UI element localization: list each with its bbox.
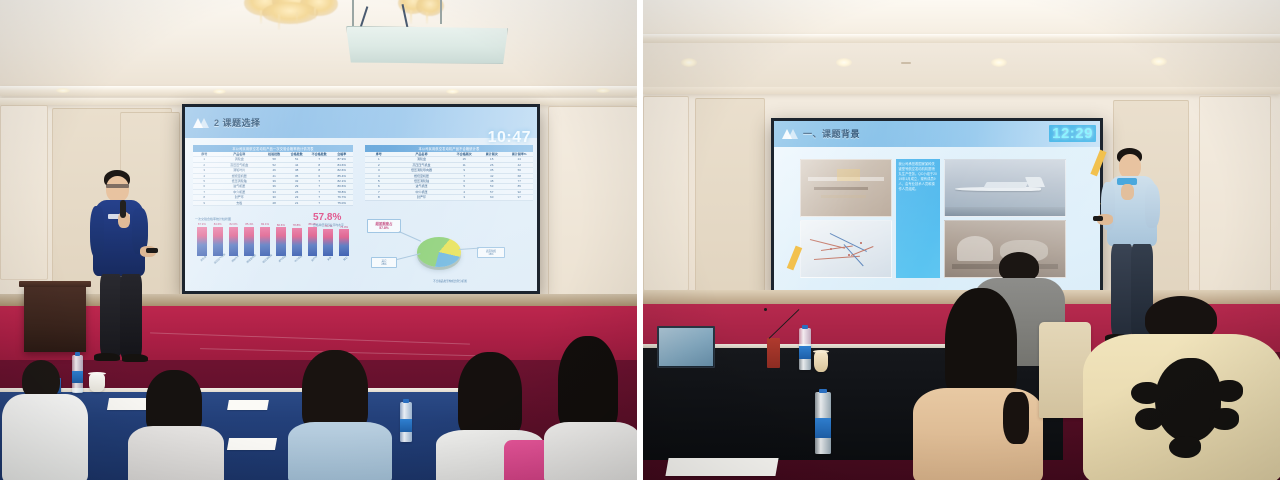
rcol-0: 序号 [365, 152, 393, 156]
presenter-leg-left [100, 274, 122, 356]
table-cell: 6 [365, 184, 393, 188]
table-cell: 9 [450, 168, 478, 172]
projection-screen-frame: 2 课题选择 10:47 本公司民用航空发动机产品一次交验合格率统计情况表 序号… [182, 104, 540, 294]
rcol-4: 累计频率% [505, 152, 533, 156]
shirt-graphic-petal-4 [1209, 408, 1239, 430]
attendee-2-torso [128, 426, 224, 480]
microphone-head [764, 308, 767, 311]
pie-chart-caption: 不合格品类型构成比例分析图 [375, 279, 525, 283]
table-cell: 35 [478, 168, 506, 172]
table-cell: 78.8% [330, 190, 353, 194]
attendee-1-torso [2, 394, 88, 480]
table-cell: 77 [505, 179, 533, 183]
bar-chart-plot: 87.9%84.6%82.6%85.4%82.1%80.6%78.8%88.2%… [195, 222, 351, 256]
table-cell: 4 [193, 174, 216, 178]
shirt-graphic-petal-2 [1135, 408, 1163, 430]
table-cell: 6 [193, 184, 216, 188]
table-cell: 15 [478, 157, 506, 161]
paper-cup [814, 352, 828, 372]
table-cell: 24 [505, 157, 533, 161]
table-cell: 5 [450, 184, 478, 188]
bar-chart-callout-value: 57.8% [313, 213, 344, 223]
table-cell: 33 [263, 190, 286, 194]
table-cell: 燃烧室机匣 [393, 174, 451, 178]
slide-body-text: 我公司承担着国家某种关键型号航空发动机机匣喷丸生产任务。QC小组于2019年1月… [896, 159, 940, 278]
table-cell: 39 [263, 179, 286, 183]
table-cell: 53 [478, 184, 506, 188]
rcol-3: 累计频次 [478, 152, 506, 156]
table-cell: 1 [193, 157, 216, 161]
slide-header-bar: 2 课题选择 [185, 107, 537, 138]
attendee-4-hair [458, 352, 522, 438]
right-downlight-2 [836, 58, 852, 67]
bar-value-label: 82.1% [261, 222, 269, 226]
table-cell: 4 [365, 174, 393, 178]
table-cell: 8 [308, 168, 331, 172]
pie-chart [417, 237, 461, 267]
presentation-clicker [146, 248, 158, 253]
table-cell: 7 [308, 179, 331, 183]
bar-value-label: 87.9% [198, 222, 206, 226]
table-cell: 46 [263, 168, 286, 172]
presenter-shoe-right [122, 354, 148, 362]
mountain-logo-icon [193, 117, 209, 128]
table-cell: 2 [193, 163, 216, 167]
table-cell: 29 [285, 184, 308, 188]
rcol-2: 不合格频次 [450, 152, 478, 156]
table-cell: 56 [505, 168, 533, 172]
table-row: 9支板2821775.0% [193, 201, 353, 206]
paper-documents-3 [227, 438, 277, 450]
ceiling-projector [346, 26, 508, 64]
table-cell: 82.6% [330, 168, 353, 172]
table-left-header: 本公司民用航空发动机产品一次交验合格率统计情况表 [193, 145, 353, 152]
slide-image-workshop [800, 159, 892, 217]
paper-documents-2 [227, 400, 269, 410]
pie-note-left-value: 25% [381, 263, 386, 266]
bar-column: 78.8% [290, 222, 304, 256]
attendee-5-torso [544, 422, 637, 480]
right-attendee-cream-shirt [1083, 296, 1280, 480]
table-cell: 进气机匣 [393, 184, 451, 188]
table-cell: 低压涡轮导向器 [393, 168, 451, 172]
projection-screen: 2 课题选择 10:47 本公司民用航空发动机产品一次交验合格率统计情况表 序号… [185, 107, 537, 291]
bar-column: 85.4% [242, 222, 256, 256]
left-presenter [78, 170, 168, 365]
slide-title: 2 课题选择 [214, 116, 261, 129]
table-cell: 7 [308, 157, 331, 161]
table-cell: 进气机匣 [216, 184, 263, 188]
table-cell: 中介机匣 [216, 190, 263, 194]
left-downlight-2 [213, 89, 226, 94]
bar-column: 82.6% [227, 222, 241, 256]
col-0: 序号 [193, 152, 216, 156]
bar-value-label: 82.6% [230, 222, 238, 226]
table-cell: 7 [308, 201, 331, 205]
table-cell: 低压涡轮轴 [216, 179, 263, 183]
left-attendee-5 [548, 336, 637, 480]
pie-leader-3 [397, 253, 420, 259]
col-3: 合格批数 [285, 152, 308, 156]
shirt-graphic-petal-1 [1131, 382, 1161, 404]
table-cell: 44 [285, 163, 308, 167]
bar-value-label: 80.6% [277, 223, 285, 227]
left-downlight-4 [596, 88, 610, 93]
table-cell: 2 [365, 163, 393, 167]
table-right-body: 1涡轮盘1515242高压压气机盘1126423低压涡轮导向器935564燃烧室… [365, 157, 533, 200]
table-cell: 7 [365, 190, 393, 194]
right-ceiling-band [643, 43, 1280, 87]
left-attendee-4 [436, 352, 544, 480]
right-wall-panel-1 [643, 96, 689, 291]
table-cell: 52 [263, 163, 286, 167]
bar [213, 227, 223, 257]
col-2: 检验批数 [263, 152, 286, 156]
table-cell: 5 [365, 179, 393, 183]
water-bottle-mid [400, 402, 412, 442]
attendee-2-hair [146, 370, 202, 434]
table-cell: 97 [505, 195, 533, 199]
table-cell: 11 [450, 163, 478, 167]
projector-rod-left [352, 0, 354, 26]
right-presentation-timer: 12:29 [1049, 125, 1096, 142]
pie-callout-value: 57.8% [379, 226, 389, 230]
ceiling-vent-icon [901, 62, 911, 64]
pie-leader-2 [459, 248, 479, 250]
table-cell: 涡轮盘 [216, 157, 263, 161]
table-cell: 5 [193, 179, 216, 183]
right-wall-panel-3 [1199, 96, 1271, 296]
attendee-beige-hair [945, 288, 1017, 400]
right-attendee-beige [911, 288, 1043, 480]
projector-rod-right [440, 0, 442, 24]
table-cell: 封严环 [393, 195, 451, 199]
microphone [120, 200, 126, 218]
table-right-header: 本公司民用航空发动机产品不合格统计表 [365, 145, 533, 152]
table-cell: 7 [193, 190, 216, 194]
table-cell: 高压压气机盘 [216, 163, 263, 167]
table-cell: 23 [285, 195, 308, 199]
table-cell: 36 [263, 184, 286, 188]
right-cornice-upper [643, 34, 1280, 43]
left-attendee-1 [6, 360, 94, 480]
presenter-leg-right [120, 274, 142, 358]
attendee-4-pink-top [504, 440, 548, 480]
table-cell: 82.1% [330, 179, 353, 183]
table-cell: 8 [308, 163, 331, 167]
bar-column: 75.0% [337, 222, 351, 256]
bar-column: 82.1% [258, 222, 272, 256]
left-downlight-1 [56, 88, 70, 93]
table-cell: 57 [478, 190, 506, 194]
bar [308, 227, 318, 257]
bar-column: 87.9% [195, 222, 209, 256]
right-water-bottle-table [799, 328, 811, 370]
slide-image-wiring-diagram [800, 220, 892, 278]
pie-callout-main: 超差报废占 57.8% [367, 219, 401, 233]
right-water-bottle-front [815, 392, 831, 454]
table-cell: 76.7% [330, 195, 353, 199]
bar [260, 227, 270, 256]
table-cell: 封严环 [216, 195, 263, 199]
table-cell: 4 [450, 190, 478, 194]
mountain-logo-icon-right [782, 128, 798, 139]
podium [24, 286, 86, 352]
table-cell: 32 [285, 179, 308, 183]
attendee-3-torso [288, 422, 392, 480]
table-cell: 41 [263, 174, 286, 178]
table-cell: 8 [193, 195, 216, 199]
bar-column: 76.7% [321, 222, 335, 256]
right-presenter-arm-right [1145, 184, 1160, 228]
table-cell: 高压压气机盘 [393, 163, 451, 167]
table-cell: 涡轮叶片 [216, 168, 263, 172]
bar-value-label: 85.4% [245, 222, 253, 226]
table-cell: 3 [365, 168, 393, 172]
right-presentation-clicker [1093, 216, 1103, 221]
right-wall-panel-2 [695, 98, 765, 308]
bar-column: 84.6% [211, 222, 225, 256]
right-downlight-3 [991, 58, 1007, 67]
table-cell: 7 [450, 174, 478, 178]
table-cell: 35 [285, 174, 308, 178]
left-wall-panel-1 [0, 105, 48, 280]
table-cell: 84.6% [330, 163, 353, 167]
table-cell: 60 [478, 195, 506, 199]
col-1: 产品名称 [216, 152, 263, 156]
bar-value-label: 84.6% [214, 222, 222, 226]
presenter-glasses-icon [106, 184, 129, 188]
table-cell: 中介机匣 [393, 190, 451, 194]
bar-column: 80.6% [274, 222, 288, 256]
table-left: 本公司民用航空发动机产品一次交验合格率统计情况表 序号 产品名称 检验批数 合格… [193, 145, 353, 206]
presenter-arm-left [90, 206, 104, 258]
table-cell: 75.0% [330, 201, 353, 205]
table-cell: 9 [193, 201, 216, 205]
table-cell: 38 [285, 168, 308, 172]
table-row: 8封严环36097 [365, 195, 533, 200]
bar-value-label: 78.8% [293, 223, 301, 227]
bar-chart-callout-note: 合格率低于行业平均水平 [313, 223, 344, 227]
shirt-graphic-petal-3 [1213, 380, 1243, 402]
right-presentation-photo: 一、课题背景 12:29 [643, 0, 1280, 480]
pie-note-right-value: 18% [488, 253, 493, 256]
bar [244, 227, 254, 257]
laptop [657, 326, 715, 368]
table-cell: 7 [308, 184, 331, 188]
left-presentation-photo: 2 课题选择 10:47 本公司民用航空发动机产品一次交验合格率统计情况表 序号… [0, 0, 637, 480]
bar [292, 228, 302, 256]
table-cell: 28 [263, 201, 286, 205]
table-cell: 低压涡轮轴 [393, 179, 451, 183]
right-presenter-hand-mic [1121, 184, 1134, 200]
chandelier [238, 0, 346, 44]
table-cell: 3 [450, 195, 478, 199]
col-4: 不合格批数 [308, 152, 331, 156]
bar [197, 227, 207, 257]
bar-column: 88.2% [306, 222, 320, 256]
bar [229, 227, 239, 256]
table-cell: 26 [478, 163, 506, 167]
pie-note-left: 其它 25% [371, 257, 397, 268]
table-cell: 30 [263, 195, 286, 199]
table-cell: 3 [193, 168, 216, 172]
right-paper-documents [665, 458, 778, 476]
pie-leader-1 [399, 231, 421, 241]
attendee-3-hair [302, 350, 368, 432]
right-downlight-1 [681, 58, 697, 67]
bar-chart-callout: 57.8% 合格率低于行业平均水平 [313, 213, 344, 227]
table-cell: 1 [365, 157, 393, 161]
table-cell: 48 [478, 179, 506, 183]
left-wall-panel-3 [548, 106, 637, 301]
bar [276, 227, 286, 256]
table-right: 本公司民用航空发动机产品不合格统计表 序号 产品名称 不合格频次 累计频次 累计… [365, 145, 533, 201]
bar-chart-category-labels: 涡轮盘高压压气机盘涡轮叶片燃烧室机匣低压涡轮轴进气机匣中介机匣封严环支板其它 [195, 257, 351, 261]
microphone-base [767, 338, 780, 368]
pie-note-right: 表面缺陷 18% [477, 247, 505, 258]
rcol-1: 产品名称 [393, 152, 451, 156]
table-cell: 68 [505, 174, 533, 178]
table-cell: 85.4% [330, 174, 353, 178]
table-cell: 7 [308, 190, 331, 194]
shirt-graphic-petal-5 [1169, 436, 1201, 458]
table-cell: 燃烧室机匣 [216, 174, 263, 178]
table-cell: 15 [450, 157, 478, 161]
table-cell: 6 [308, 174, 331, 178]
table-cell: 92 [505, 190, 533, 194]
wiring-route-map [806, 224, 885, 273]
left-cornice-upper [0, 86, 637, 96]
presenter-shoe-left [94, 353, 120, 361]
shirt-graphic-print [1155, 358, 1221, 442]
left-attendee-2 [128, 370, 224, 480]
attendee-beige-ponytail [1003, 392, 1029, 444]
table-cell: 58 [263, 157, 286, 161]
table-cell: 21 [285, 201, 308, 205]
table-cell: 26 [285, 190, 308, 194]
turboprop-aircraft-icon [955, 180, 1056, 197]
presenter-head [106, 176, 129, 202]
right-slide-title: 一、课题背景 [803, 127, 860, 140]
left-downlight-3 [446, 89, 459, 94]
table-cell: 42 [505, 163, 533, 167]
table-cell: 80.6% [330, 184, 353, 188]
slide-image-aircraft [944, 159, 1066, 217]
attendee-5-hair [558, 336, 618, 432]
table-cell: 8 [365, 195, 393, 199]
col-5: 合格率 [330, 152, 353, 156]
table-cell: 7 [308, 195, 331, 199]
table-cell: 6 [450, 179, 478, 183]
table-cell: 支板 [216, 201, 263, 205]
table-cell: 51 [285, 157, 308, 161]
table-cell: 85 [505, 184, 533, 188]
table-left-body: 1涡轮盘5851787.9%2高压压气机盘5244884.6%3涡轮叶片4638… [193, 157, 353, 206]
screenshot-root: 2 课题选择 10:47 本公司民用航空发动机产品一次交验合格率统计情况表 序号… [0, 0, 1280, 480]
table-cell: 87.9% [330, 157, 353, 161]
left-attendee-3 [288, 350, 392, 480]
table-cell: 42 [478, 174, 506, 178]
right-downlight-4 [1151, 57, 1167, 66]
table-cell: 涡轮盘 [393, 157, 451, 161]
